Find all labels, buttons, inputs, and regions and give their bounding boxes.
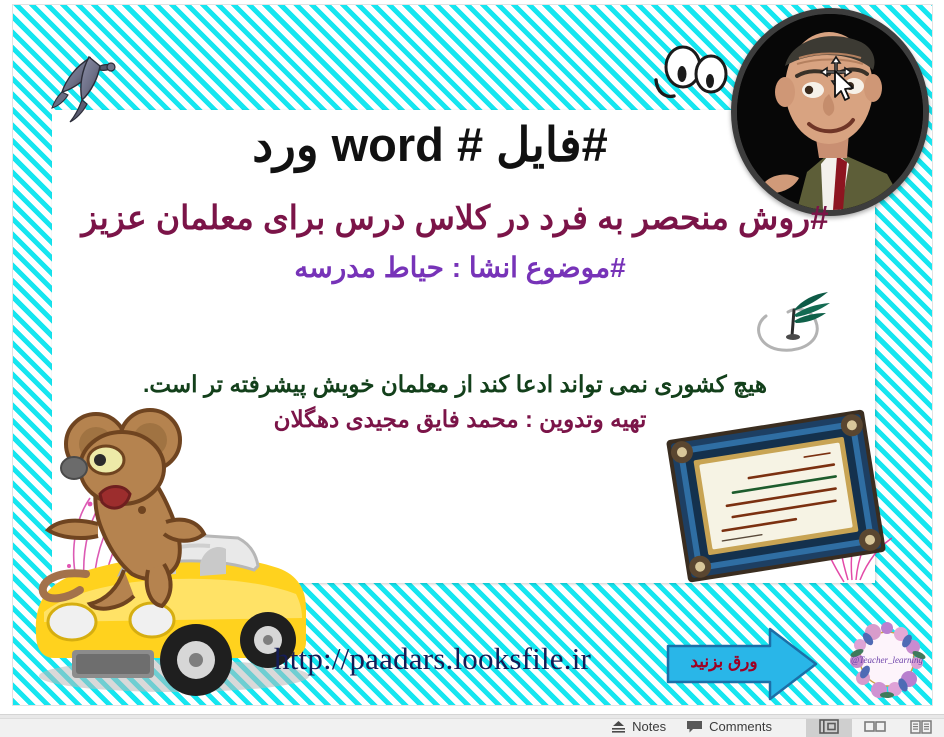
- notes-label: Notes: [632, 719, 666, 734]
- site-url[interactable]: http://paadars.looksfile.ir: [274, 641, 591, 677]
- mouse-in-car-icon: [24, 398, 314, 698]
- googly-eyes-icon: [650, 44, 736, 106]
- slide-subtitle-purple: #موضوع انشا : حیاط مدرسه: [140, 251, 780, 285]
- notes-icon: [611, 720, 626, 733]
- powerpoint-window: #فایل # word ورد #روش منحصر به فرد در کل…: [0, 0, 944, 737]
- status-bar-top-rule: [0, 715, 944, 719]
- comments-label: Comments: [709, 719, 772, 734]
- slide-quote: هیچ کشوری نمی تواند ادعا کند از معلمان خ…: [90, 371, 820, 399]
- reading-view-icon: [910, 720, 932, 734]
- slide-sorter-view-icon: [864, 720, 886, 733]
- mr-bean-portrait-icon[interactable]: [731, 8, 929, 216]
- plant-swirl-icon: [744, 282, 846, 354]
- slide-title: #فایل # word ورد: [120, 118, 740, 172]
- comment-icon: [686, 720, 703, 733]
- slide-subtitle-maroon: #روش منحصر به فرد در کلاس درس برای معلما…: [55, 198, 855, 238]
- next-slide-arrow-label: ورق بزنید: [680, 652, 768, 672]
- normal-view-icon: [819, 719, 839, 734]
- status-bar: Notes Comments: [0, 714, 944, 737]
- flower-wreath-logo-icon: @Teacher_learning: [841, 615, 933, 703]
- next-slide-arrow[interactable]: ورق بزنید: [666, 627, 818, 701]
- flower-logo-handle: @Teacher_learning: [851, 655, 923, 665]
- slide-canvas[interactable]: #فایل # word ورد #روش منحصر به فرد در کل…: [0, 0, 944, 714]
- framed-certificate-icon: [660, 396, 892, 596]
